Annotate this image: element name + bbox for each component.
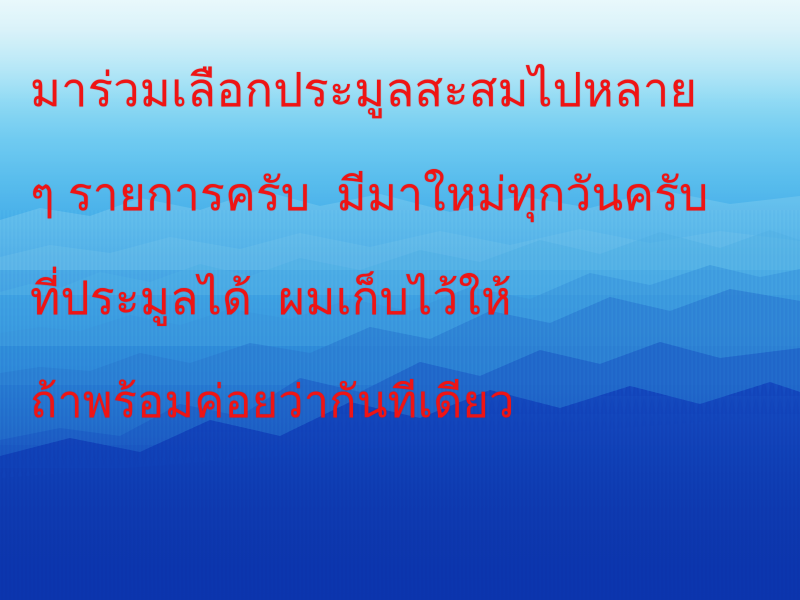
caption-line-2: ๆ รายการครับ มีมาใหม่ทุกวันครับ	[30, 142, 776, 246]
caption-line-1: มาร่วมเลือกประมูลสะสมไปหลาย	[30, 38, 776, 142]
image-canvas: มาร่วมเลือกประมูลสะสมไปหลาย ๆ รายการครับ…	[0, 0, 800, 600]
caption-overlay: มาร่วมเลือกประมูลสะสมไปหลาย ๆ รายการครับ…	[0, 0, 800, 454]
caption-line-3: ที่ประมูลได้ ผมเก็บไว้ให้	[30, 246, 776, 350]
caption-line-4: ถ้าพร้อมค่อยว่ากันทีเดียว	[30, 350, 776, 454]
